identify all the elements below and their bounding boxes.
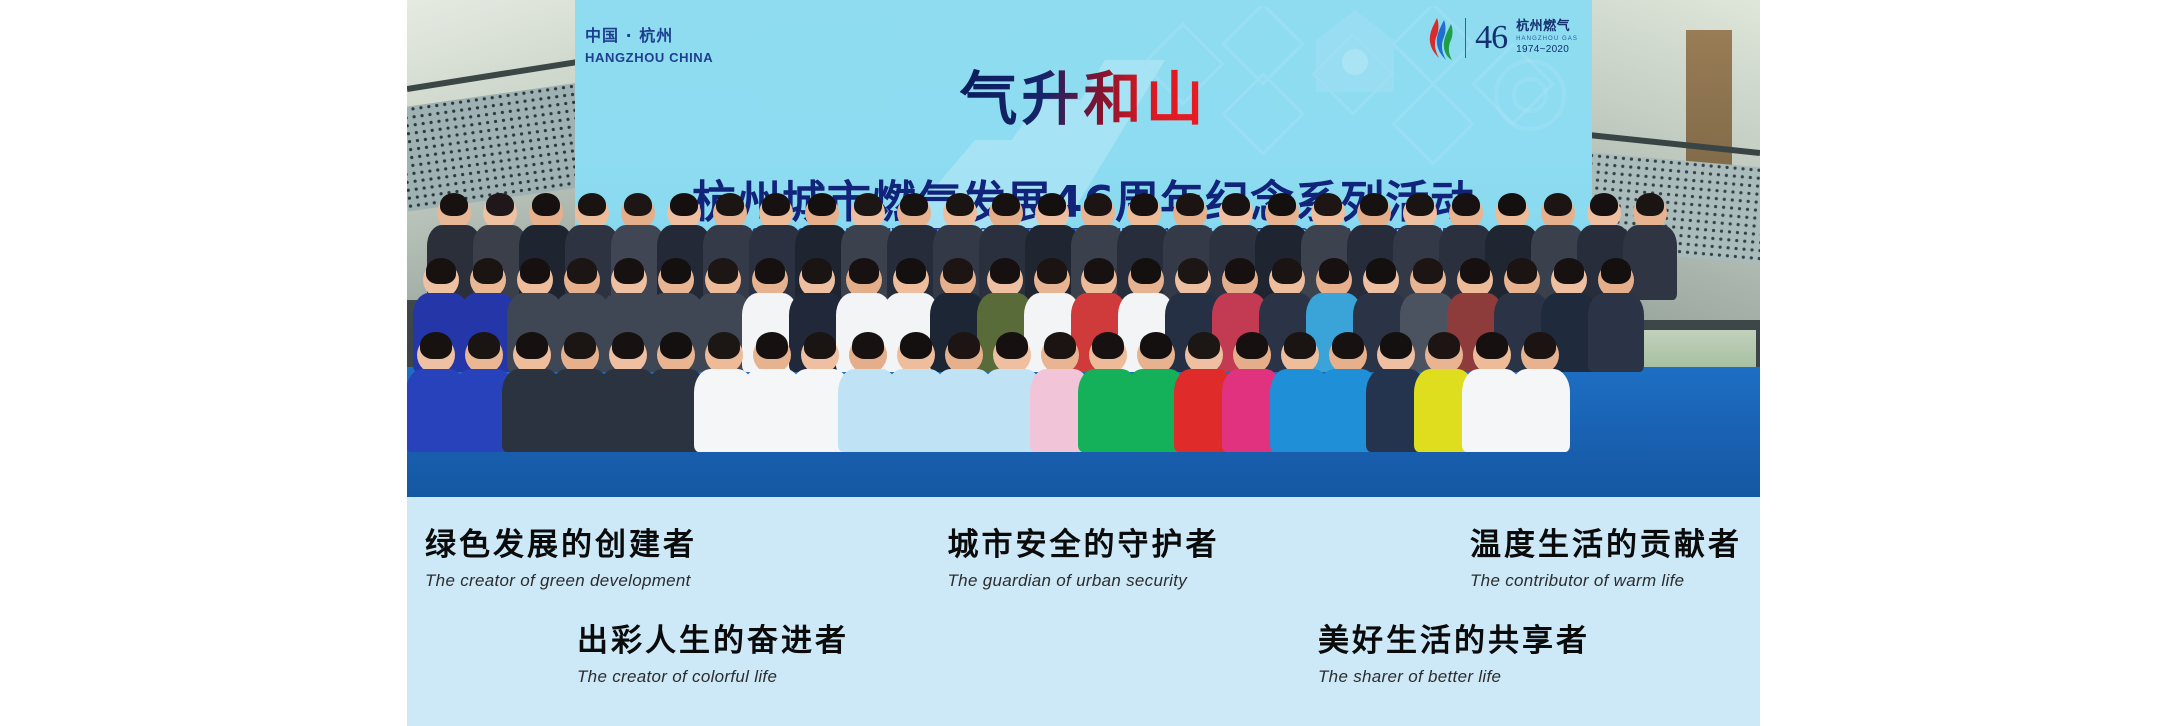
attendee [940, 262, 976, 298]
attendee [1185, 336, 1223, 374]
attendee [805, 196, 839, 230]
attendee [1089, 336, 1127, 374]
attendee [799, 262, 835, 298]
attendee [621, 196, 655, 230]
attendee [1041, 336, 1079, 374]
attendee [1425, 336, 1463, 374]
attendee [1363, 262, 1399, 298]
attendee [1457, 262, 1493, 298]
attendee [1551, 262, 1587, 298]
slogan-cn: 城市安全的守护者 [948, 519, 1220, 564]
slogan-cn: 绿色发展的创建者 [425, 519, 697, 564]
attendee [713, 196, 747, 230]
attendee [1269, 262, 1305, 298]
slogan-cn: 美好生活的共享者 [1318, 615, 1590, 660]
attendee [945, 336, 983, 374]
attendee [851, 196, 885, 230]
attendee [1410, 262, 1446, 298]
attendee [801, 336, 839, 374]
brand-text-block: 杭州燃气 HANGZHOU GAS 1974~2020 [1516, 19, 1578, 56]
slogan-section: 绿色发展的创建者 The creator of green developmen… [407, 497, 1760, 726]
slogan-item: 美好生活的共享者 The sharer of better life [1318, 615, 1590, 687]
attendee [1173, 196, 1207, 230]
page-root: 中国 · 杭州 HANGZHOU CHINA 46 杭州燃气 HANGZHOU … [0, 0, 2179, 726]
attendee [1329, 336, 1367, 374]
attendee [529, 196, 563, 230]
slogan-item: 城市安全的守护者 The guardian of urban security [948, 519, 1220, 591]
attendee [1081, 262, 1117, 298]
slogan-row-1: 绿色发展的创建者 The creator of green developmen… [407, 519, 1760, 591]
event-logotype: 气升和山 [959, 52, 1207, 136]
flame-logo-icon [1424, 16, 1456, 60]
attendee [465, 336, 503, 374]
house-decor-icon [1310, 4, 1400, 96]
brand-lockup: 46 杭州燃气 HANGZHOU GAS 1974~2020 [1424, 16, 1578, 60]
attendee [417, 336, 455, 374]
attendee [575, 196, 609, 230]
slogan-item: 温度生活的贡献者 The contributor of warm life [1470, 519, 1742, 591]
slogan-en: The creator of green development [425, 571, 697, 591]
attendee [759, 196, 793, 230]
attendee [657, 336, 695, 374]
attendee [1311, 196, 1345, 230]
slogan-en: The guardian of urban security [948, 571, 1220, 591]
attendee [1357, 196, 1391, 230]
attendees-group [407, 150, 1760, 497]
slogan-item: 出彩人生的奋进者 The creator of colorful life [577, 615, 849, 687]
attendee [1175, 262, 1211, 298]
slogan-cn: 出彩人生的奋进者 [577, 615, 849, 660]
attendee [1598, 262, 1634, 298]
slogan-en: The creator of colorful life [577, 667, 849, 687]
brand-company-en: HANGZHOU GAS [1516, 36, 1578, 44]
attendee [849, 336, 887, 374]
attendee [1316, 262, 1352, 298]
attendee [1219, 196, 1253, 230]
attendee [423, 262, 459, 298]
attendee [1127, 196, 1161, 230]
attendee [1137, 336, 1175, 374]
attendee [470, 262, 506, 298]
attendee [517, 262, 553, 298]
attendee [987, 262, 1023, 298]
attendee [897, 336, 935, 374]
attendee [989, 196, 1023, 230]
attendee [1587, 196, 1621, 230]
attendee [1222, 262, 1258, 298]
attendee [943, 196, 977, 230]
city-label-en: HANGZHOU CHINA [585, 50, 713, 65]
attendee [437, 196, 471, 230]
attendee [1473, 336, 1511, 374]
attendee [1265, 196, 1299, 230]
attendee [753, 336, 791, 374]
city-label-cn: 中国 · 杭州 [585, 22, 713, 46]
brand-divider [1465, 18, 1466, 58]
attendee [705, 336, 743, 374]
attendee [1495, 196, 1529, 230]
led-city-label: 中国 · 杭州 HANGZHOU CHINA [585, 22, 713, 65]
attendee [705, 262, 741, 298]
attendee [667, 196, 701, 230]
attendee-row-back [407, 196, 1760, 230]
attendee [483, 196, 517, 230]
attendee [752, 262, 788, 298]
attendee [1081, 196, 1115, 230]
attendee [1377, 336, 1415, 374]
group-photo: 中国 · 杭州 HANGZHOU CHINA 46 杭州燃气 HANGZHOU … [407, 0, 1760, 497]
attendee [1035, 196, 1069, 230]
slogan-en: The contributor of warm life [1470, 571, 1742, 591]
anniversary-number: 46 [1475, 21, 1507, 55]
slogan-row-2: 出彩人生的奋进者 The creator of colorful life 美好… [407, 615, 1760, 687]
attendee [1521, 336, 1559, 374]
attendee [1403, 196, 1437, 230]
slogan-en: The sharer of better life [1318, 667, 1590, 687]
attendee [609, 336, 647, 374]
attendee [1449, 196, 1483, 230]
attendee [1128, 262, 1164, 298]
attendee [893, 262, 929, 298]
attendee [1504, 262, 1540, 298]
attendee [846, 262, 882, 298]
attendee [1034, 262, 1070, 298]
attendee [1233, 336, 1271, 374]
brand-years: 1974~2020 [1516, 44, 1578, 57]
attendee [897, 196, 931, 230]
attendee [564, 262, 600, 298]
attendee [611, 262, 647, 298]
attendee-row-middle [407, 262, 1760, 298]
attendee [1633, 196, 1667, 230]
attendee [561, 336, 599, 374]
attendee [1541, 196, 1575, 230]
brand-company-cn: 杭州燃气 [1516, 19, 1578, 35]
attendee [993, 336, 1031, 374]
slogan-cn: 温度生活的贡献者 [1470, 519, 1742, 564]
attendee [658, 262, 694, 298]
banner-content: 中国 · 杭州 HANGZHOU CHINA 46 杭州燃气 HANGZHOU … [407, 0, 1760, 726]
attendee-row-front [407, 336, 1760, 374]
slogan-item: 绿色发展的创建者 The creator of green developmen… [425, 519, 697, 591]
attendee [513, 336, 551, 374]
attendee [1281, 336, 1319, 374]
